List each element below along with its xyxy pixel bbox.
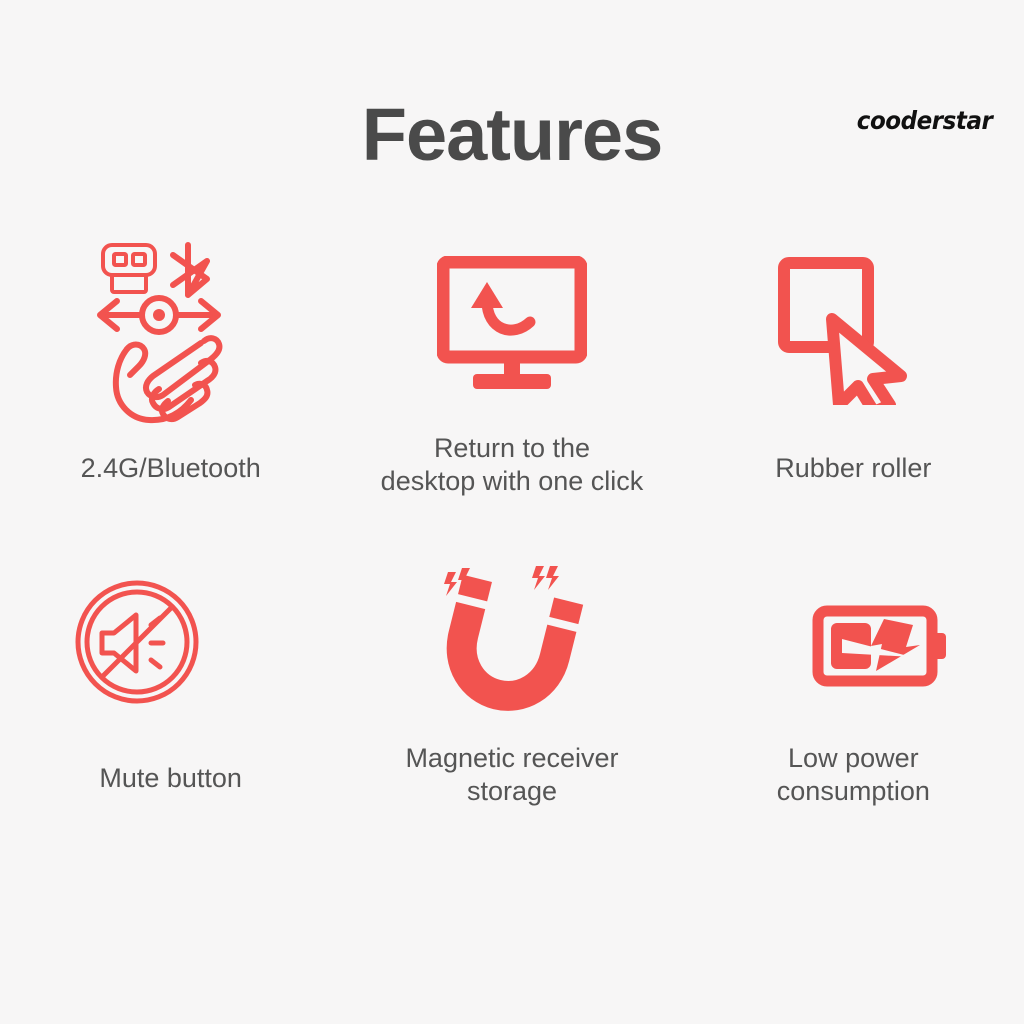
feature-label: Return to the desktop with one click — [381, 432, 644, 498]
feature-item-magnetic-receiver-storage: Magnetic receiver storage — [341, 550, 682, 850]
battery-bolt-icon — [812, 556, 952, 736]
feature-label: Low power consumption — [777, 742, 930, 808]
feature-item-low-power-consumption: Low power consumption — [683, 550, 1024, 850]
feature-label: 2.4G/Bluetooth — [81, 452, 261, 485]
feature-item-wireless-connectivity: 2.4G/Bluetooth — [0, 250, 341, 550]
feature-label: Magnetic receiver storage — [405, 742, 618, 808]
feature-label: Rubber roller — [775, 452, 931, 485]
brand-logo: cooderstar — [856, 106, 992, 135]
feature-item-return-to-desktop: Return to the desktop with one click — [341, 250, 682, 550]
feature-item-mute-button: Mute button — [0, 550, 341, 850]
mute-speaker-icon — [72, 552, 202, 732]
monitor-return-arrow-icon — [437, 236, 587, 416]
usb-bluetooth-swipe-hand-icon — [83, 242, 243, 422]
square-cursor-icon — [776, 240, 921, 420]
horseshoe-magnet-icon — [434, 548, 584, 728]
feature-item-rubber-roller: Rubber roller — [683, 250, 1024, 550]
feature-poster: Features cooderstar — [0, 0, 1024, 1024]
poster-header: Features cooderstar — [0, 0, 1024, 200]
feature-label: Mute button — [99, 762, 242, 795]
features-grid: 2.4G/Bluetooth Return to the desktop wit… — [0, 250, 1024, 850]
